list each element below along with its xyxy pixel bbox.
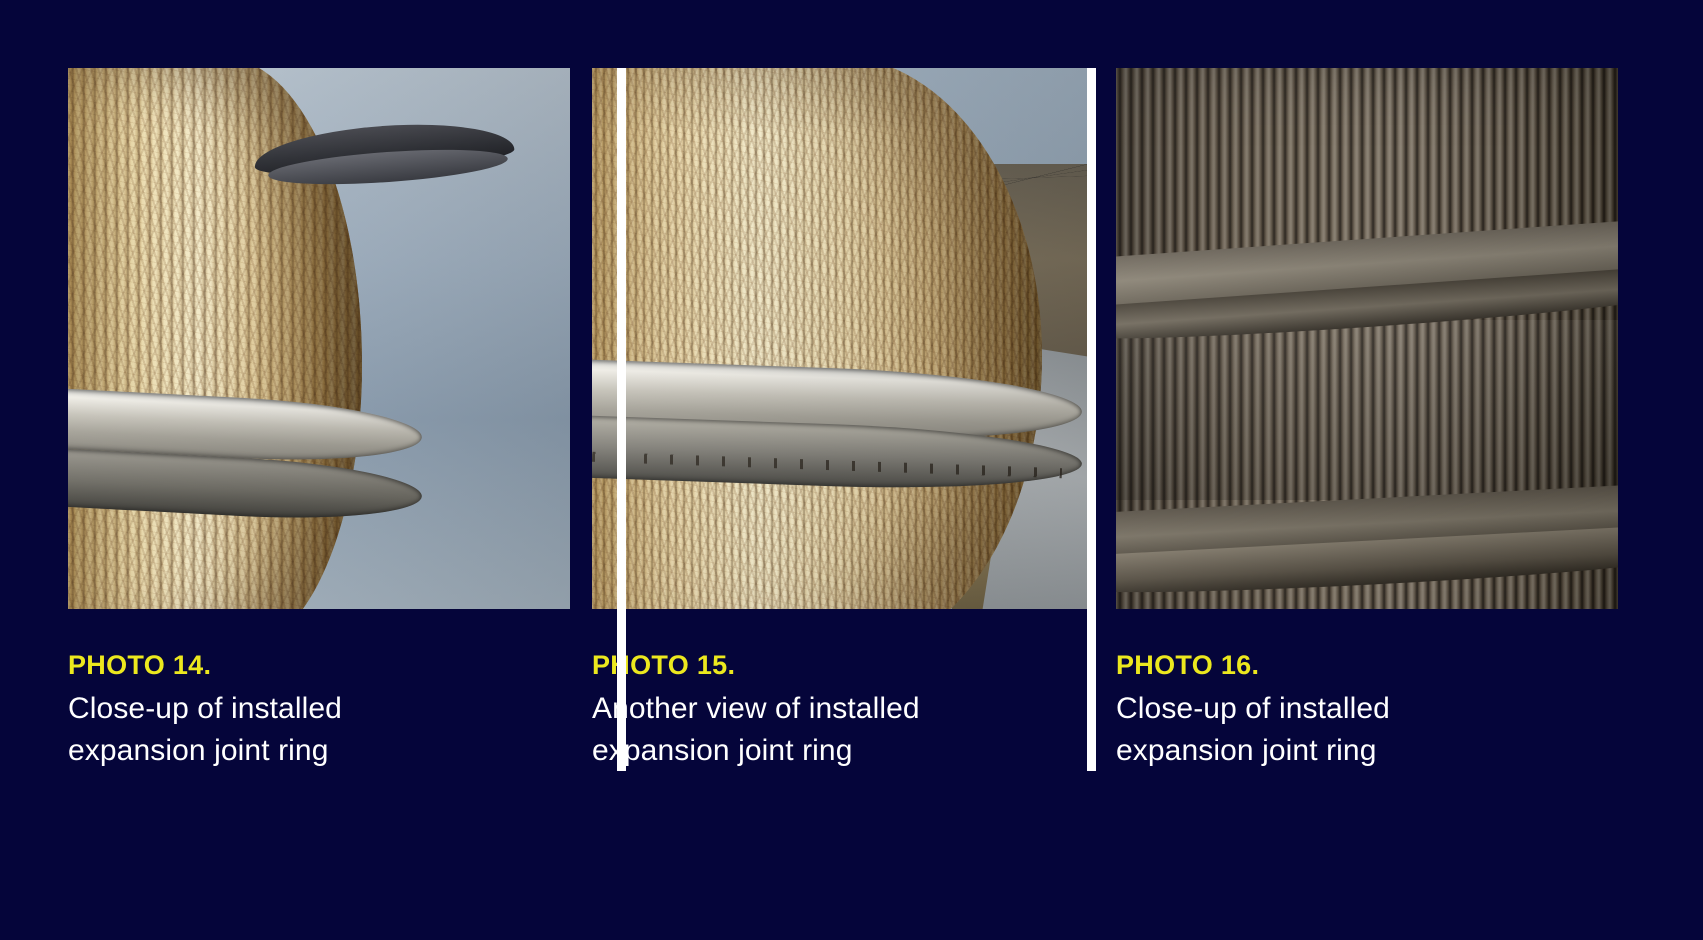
- photo-panel-15: PHOTO 15. Another view of installed expa…: [592, 68, 1094, 771]
- panel-gap-2: [1094, 68, 1116, 771]
- tower-body: [592, 68, 1042, 609]
- photo-panel-16: PHOTO 16. Close-up of installed expansio…: [1116, 68, 1618, 771]
- panel-gap-1: [570, 68, 592, 771]
- photo-image-14: [68, 68, 570, 609]
- panel-divider-1: [617, 68, 626, 771]
- photo-caption-line1-15: Another view of installed: [592, 688, 1094, 729]
- caption-16: PHOTO 16. Close-up of installed expansio…: [1116, 609, 1618, 771]
- photo-label-16: PHOTO 16.: [1116, 651, 1618, 681]
- photo-image-16: [1116, 68, 1618, 609]
- photo-caption-line1-14: Close-up of installed: [68, 688, 570, 729]
- caption-15: PHOTO 15. Another view of installed expa…: [592, 609, 1094, 771]
- photo-label-14: PHOTO 14.: [68, 651, 570, 681]
- panel-row: PHOTO 14. Close-up of installed expansio…: [68, 68, 1619, 771]
- surface-texture: [592, 68, 1042, 609]
- photo-image-15: [592, 68, 1094, 609]
- photo-label-15: PHOTO 15.: [592, 651, 1094, 681]
- panel-band: [1116, 320, 1618, 500]
- photo-caption-line2-14: expansion joint ring: [68, 730, 570, 771]
- panel-divider-2: [1087, 68, 1096, 771]
- photo-caption-line2-16: expansion joint ring: [1116, 730, 1618, 771]
- photo-caption-line2-15: expansion joint ring: [592, 730, 1094, 771]
- caption-14: PHOTO 14. Close-up of installed expansio…: [68, 609, 570, 771]
- photo-panel-14: PHOTO 14. Close-up of installed expansio…: [68, 68, 570, 771]
- photo-caption-line1-16: Close-up of installed: [1116, 688, 1618, 729]
- photo-gallery-figure: PHOTO 14. Close-up of installed expansio…: [0, 0, 1703, 940]
